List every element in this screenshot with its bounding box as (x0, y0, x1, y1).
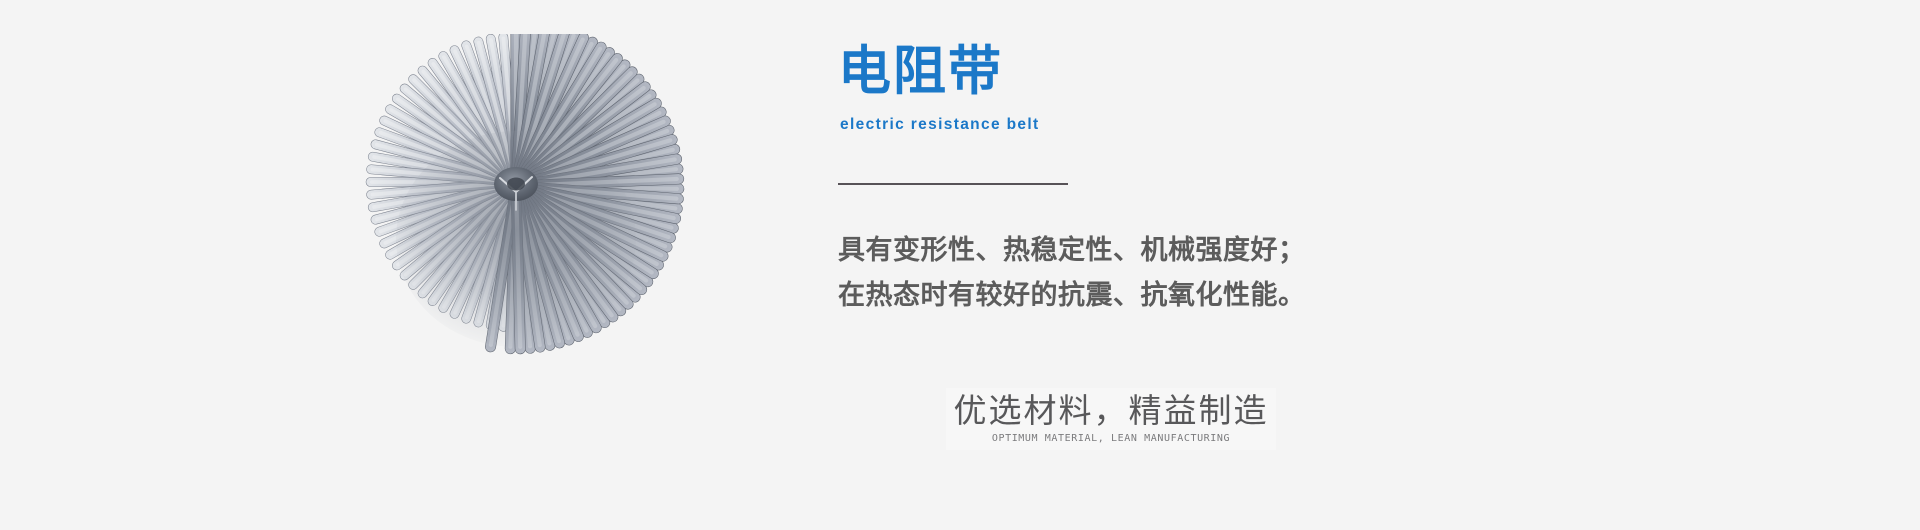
core-shading (396, 131, 636, 347)
product-banner: 电阻带 electric resistance belt 具有变形性、热稳定性、… (0, 0, 1920, 530)
description-text: 具有变形性、热稳定性、机械强度好； 在热态时有较好的抗震、抗氧化性能。 (838, 228, 1458, 318)
brand-tagline: 优选材料，精益制造 OPTIMUM MATERIAL, LEAN MANUFAC… (946, 388, 1276, 450)
tagline-english: OPTIMUM MATERIAL, LEAN MANUFACTURING (946, 432, 1276, 446)
product-image (340, 34, 700, 434)
tagline-chinese: 优选材料，精益制造 (946, 390, 1276, 432)
description-line-2: 在热态时有较好的抗震、抗氧化性能。 (838, 273, 1458, 318)
resistance-belt-illustration (340, 34, 700, 434)
page-title: 电阻带 (838, 44, 1003, 100)
title-divider (838, 183, 1068, 185)
description-line-1: 具有变形性、热稳定性、机械强度好； (838, 228, 1458, 273)
page-subtitle: electric resistance belt (840, 116, 1040, 134)
copy-column: 电阻带 electric resistance belt 具有变形性、热稳定性、… (838, 0, 1738, 530)
